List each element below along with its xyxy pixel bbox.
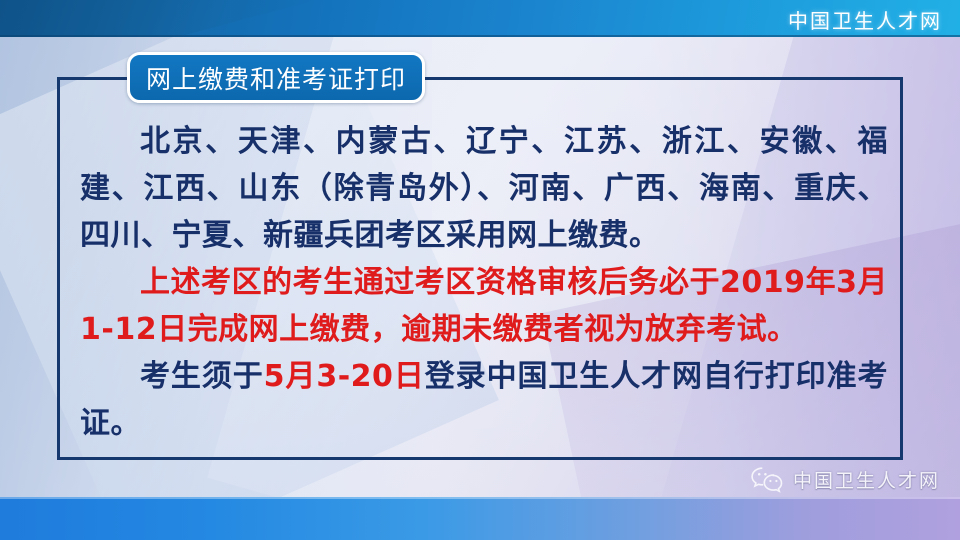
- bottom-banner-highlight: [0, 497, 960, 499]
- section-title-label: 网上缴费和准考证打印: [146, 60, 406, 96]
- top-banner-shade: [0, 0, 317, 37]
- ticket-date-highlight: 5月3-20日: [264, 359, 425, 394]
- slide-canvas: 中国卫生人才网 网上缴费和准考证打印 北京、天津、内蒙古、辽宁、江苏、浙江、安徽…: [0, 0, 960, 540]
- ticket-text-lead: 考生须于: [140, 359, 264, 394]
- section-title-badge: 网上缴费和准考证打印: [127, 52, 425, 103]
- bottom-banner: [0, 497, 960, 540]
- body-text-block: 北京、天津、内蒙古、辽宁、江苏、浙江、安徽、福建、江西、山东（除青岛外）、河南、…: [80, 118, 888, 447]
- paragraph-payment-deadline: 上述考区的考生通过考区资格审核后务必于2019年3月1-12日完成网上缴费，逾期…: [80, 259, 888, 353]
- wechat-icon: [750, 466, 784, 493]
- paragraph-admission-ticket: 考生须于5月3-20日登录中国卫生人才网自行打印准考证。: [80, 353, 888, 447]
- wechat-watermark: 中国卫生人才网: [750, 466, 940, 493]
- wechat-watermark-text: 中国卫生人才网: [793, 466, 940, 493]
- top-banner-brand-text: 中国卫生人才网: [788, 5, 942, 34]
- top-banner-underline: [0, 35, 960, 37]
- paragraph-provinces: 北京、天津、内蒙古、辽宁、江苏、浙江、安徽、福建、江西、山东（除青岛外）、河南、…: [80, 118, 888, 259]
